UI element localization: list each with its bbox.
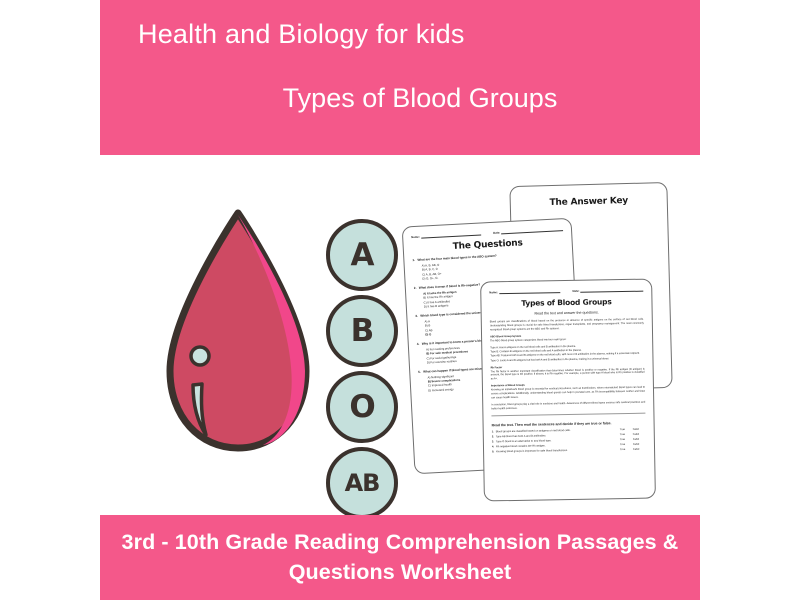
blood-drop-icon [163,205,313,455]
series-title: Health and Biology for kids [124,18,676,50]
true-option[interactable]: True [620,427,633,430]
true-false-section: Read the text. Then read the sentences a… [491,412,646,453]
true-false-text: Type AB blood has both A and B antibodie… [496,433,620,438]
name-label: Name: [489,290,498,294]
bottom-banner: 3rd - 10th Grade Reading Comprehension P… [100,515,700,600]
false-option[interactable]: False [633,443,646,446]
false-option[interactable]: False [633,427,646,430]
passage-intro: Blood groups are classifications of bloo… [490,318,644,332]
passage-subtitle: Read the text and answer the questions. [490,310,644,317]
name-rule [421,230,482,238]
worksheet-page-passage: Name: Date: Types of Blood Groups Read t… [480,279,656,502]
answer-key-title: The Answer Key [519,195,659,209]
date-rule [580,287,643,293]
true-option[interactable]: True [620,448,633,451]
blood-type-circle-ab: AB [326,447,398,519]
true-false-text: Knowing blood groups is important for sa… [496,448,620,453]
true-false-text: Rh negative blood contains the Rh antige… [496,443,620,448]
date-rule [501,226,563,234]
blood-type-circle-b: B [326,295,398,367]
name-rule [499,288,560,294]
passage-title: Types of Blood Groups [489,297,643,309]
true-option[interactable]: True [620,433,633,436]
question-item: 1. What are the four main blood types in… [412,250,565,282]
date-field: Date: [493,226,563,235]
topic-title: Types of Blood Groups [124,82,676,114]
blood-type-circle-o: O [326,371,398,443]
blood-drop-illustration [163,205,313,455]
false-option[interactable]: False [633,448,646,451]
false-option[interactable]: False [633,432,646,435]
true-option[interactable]: True [620,438,633,441]
blood-type-circle-group: A B O AB [326,219,404,519]
false-option[interactable]: False [633,438,646,441]
date-field: Date: [572,287,643,293]
name-field: Name: [411,230,481,239]
true-false-text: Blood groups are classified based on ant… [496,428,620,433]
passage-section-body: Knowing an individual's blood group is e… [491,386,645,400]
name-label: Name: [411,235,420,239]
name-field: Name: [489,288,560,294]
true-false-text: Type O blood is an alternative to any bl… [496,438,620,443]
top-banner: Health and Biology for kids Types of Blo… [100,0,700,155]
passage-section-body: The Rh factor is another important class… [491,367,645,381]
name-date-row: Name: Date: [489,287,643,295]
grade-range-description: 3rd - 10th Grade Reading Comprehension P… [100,528,700,586]
true-option[interactable]: True [620,443,633,446]
date-label: Date: [572,289,579,293]
passage-conclusion: In conclusion, blood groups play a vital… [491,400,645,410]
true-false-row: 5. Knowing blood groups is important for… [492,448,646,454]
blood-type-circle-a: A [326,219,398,291]
true-false-heading: Read the text. Then read the sentences a… [492,420,646,427]
date-label: Date: [493,230,500,234]
